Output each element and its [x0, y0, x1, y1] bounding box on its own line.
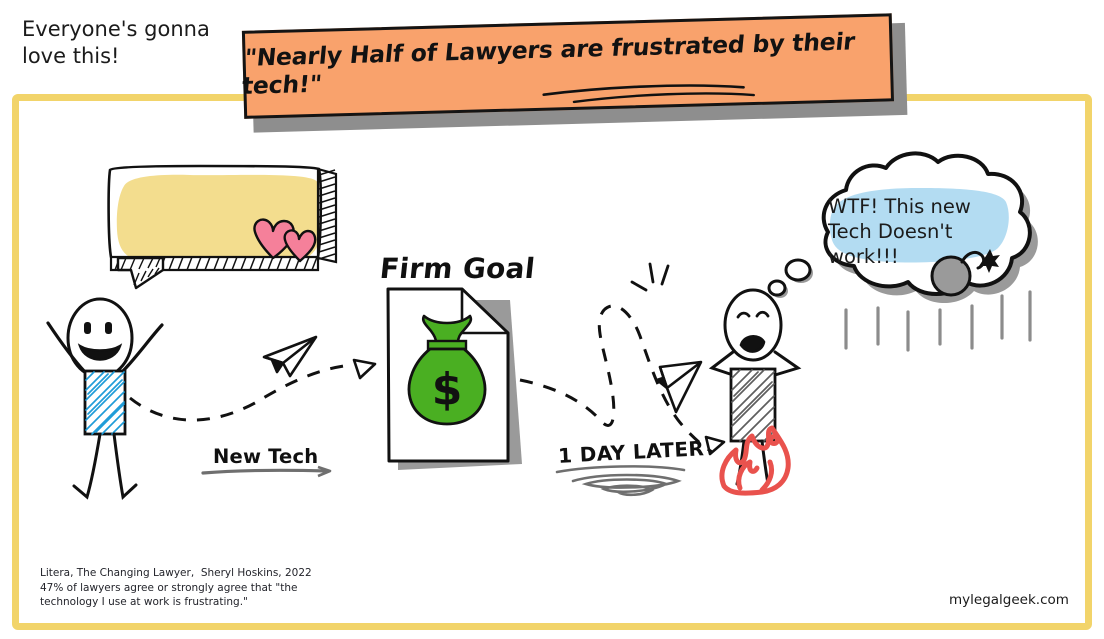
- site-watermark: mylegalgeek.com: [949, 592, 1069, 608]
- speech-bubble-text: Everyone's gonna love this!: [22, 16, 212, 70]
- thought-bubble-small-2: [786, 260, 813, 283]
- new-tech-label: New Tech: [213, 445, 318, 468]
- firm-goal-document: $: [388, 289, 522, 470]
- new-tech-underline: [203, 467, 330, 476]
- svg-text:$: $: [432, 364, 463, 415]
- happy-leg-left: [74, 434, 100, 497]
- thought-bubble-small-1: [769, 281, 788, 298]
- arrowhead-1: [354, 360, 375, 378]
- sad-arm-right: [775, 352, 798, 375]
- title-banner: "Nearly Half of Lawyers are frustrated b…: [242, 13, 898, 123]
- thought-cloud-text: WTF! This new Tech Doesn't work!!!: [828, 194, 1008, 269]
- citation-line-2: 47% of lawyers agree or strongly agree t…: [40, 582, 297, 594]
- sad-mouth: [741, 336, 764, 351]
- arrowhead-2: [706, 437, 724, 454]
- citation-block: Litera, The Changing Lawyer, Sheryl Hosk…: [40, 566, 312, 610]
- impact-sparks: [632, 264, 668, 290]
- citation-line-1: Litera, The Changing Lawyer, Sheryl Hosk…: [40, 567, 312, 579]
- happy-eye-left: [84, 322, 91, 334]
- dashed-arrow-new-tech: [130, 360, 375, 420]
- citation-line-3: technology I use at work is frustrating.…: [40, 596, 248, 608]
- day-later-squiggle: [557, 466, 684, 494]
- speech-bubble-shape: [109, 166, 336, 288]
- paper-airplane-icon-2: [657, 362, 701, 412]
- happy-stick-figure: [48, 299, 162, 497]
- dashed-arrow-failure-loop: [520, 264, 724, 454]
- happy-leg-right: [114, 434, 136, 497]
- title-underline: [242, 13, 894, 119]
- paper-airplane-icon-1: [264, 337, 316, 376]
- infographic-canvas: $: [0, 0, 1104, 639]
- firm-goal-label: Firm Goal: [378, 252, 536, 285]
- happy-eye-right: [105, 322, 112, 334]
